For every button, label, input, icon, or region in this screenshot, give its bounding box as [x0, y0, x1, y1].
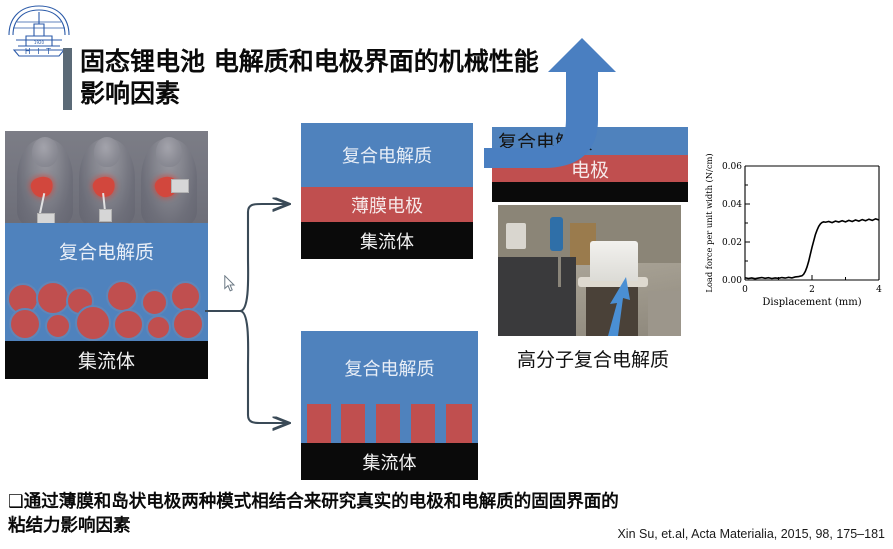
bullet-marker: ❑ — [8, 492, 24, 512]
implant-device — [37, 213, 55, 223]
particle — [9, 308, 41, 340]
xtick-label: 4 — [876, 285, 882, 295]
page-title-line1: 固态锂电池 电解质和电极界面的机械性能 — [80, 47, 539, 76]
ytick-label: 0.04 — [722, 200, 742, 210]
citation-text: Xin Su, et.al, Acta Materialia, 2015, 98… — [617, 527, 885, 541]
particle — [113, 309, 144, 340]
current-collector-layer: 集流体 — [5, 341, 208, 379]
particle — [75, 305, 111, 341]
particle — [36, 281, 70, 315]
sample-pointer-arrow — [586, 257, 646, 336]
composite-electrolyte-particles-diagram: 复合电解质 集流体 — [5, 131, 208, 379]
thin-film-electrode-stack: 复合电解质 薄膜电极 集流体 — [301, 123, 473, 259]
particle — [141, 289, 168, 316]
composite-electrolyte-layer: 复合电解质 — [492, 127, 688, 155]
svg-text:H I T: H I T — [25, 47, 53, 56]
implant-device — [99, 209, 112, 222]
xtick-label: 2 — [809, 285, 815, 295]
torso-figure — [79, 139, 135, 223]
chart-yticks — [745, 166, 750, 280]
composite-electrolyte-layer: 复合电解质 — [301, 123, 473, 187]
island-electrode — [376, 404, 400, 443]
current-collector-label: 集流体 — [5, 347, 208, 374]
page-title-line2: 影响因素 — [80, 78, 680, 110]
head-shape — [156, 137, 182, 167]
particle — [106, 280, 138, 312]
page-title: 固态锂电池 电解质和电极界面的机械性能 影响因素 — [80, 46, 680, 109]
title-accent-bar — [63, 48, 72, 110]
chart-xlabel: Displacement (mm) — [762, 297, 861, 308]
peel-test-stack: 复合电解质 电极 — [492, 127, 688, 202]
ytick-label: 0.06 — [722, 162, 742, 172]
island-electrode — [307, 404, 331, 443]
composite-electrolyte-label: 复合电解质 — [498, 128, 593, 155]
island-electrode-layer — [301, 404, 478, 443]
chart-xtick-labels: 0 2 4 — [742, 285, 882, 295]
chart-ylabel: Load force per unit width (N/cm) — [704, 153, 714, 292]
substrate-layer — [492, 182, 688, 202]
head-shape — [94, 137, 120, 167]
island-electrode — [341, 404, 365, 443]
electrode-layer: 电极 — [492, 155, 688, 182]
chart-axes — [745, 166, 879, 280]
ytick-label: 0.00 — [722, 276, 742, 286]
lab-photo-caption: 高分子复合电解质 — [498, 345, 688, 372]
polymer-composite-electrolyte-lab-photo — [498, 205, 681, 336]
ytick-label: 0.02 — [722, 238, 742, 248]
peel-force-chart: 0.00 0.02 0.04 0.06 0 2 4 Displacement (… — [701, 152, 885, 310]
photo-bottle — [550, 217, 563, 251]
pacemaker-implant-photo — [5, 131, 208, 223]
particle — [45, 313, 71, 339]
photo-stand-pole — [558, 251, 561, 287]
torso-figure — [141, 139, 197, 223]
mouse-cursor — [224, 275, 236, 292]
particle — [146, 315, 171, 340]
svg-text:1920: 1920 — [34, 40, 45, 45]
composite-electrolyte-label: 复合电解质 — [5, 238, 208, 265]
composite-electrolyte-label: 复合电解质 — [301, 355, 478, 381]
photo-monitor — [506, 223, 526, 249]
particle-layer — [5, 279, 208, 341]
current-collector-layer: 集流体 — [301, 222, 473, 259]
implant-device — [171, 179, 189, 193]
island-electrode-stack: 复合电解质 集流体 — [301, 331, 478, 480]
composite-electrolyte-layer: 复合电解质 — [301, 331, 478, 404]
current-collector-layer: 集流体 — [301, 443, 478, 480]
bullet-text: ❑通过薄膜和岛状电极两种模式相结合来研究真实的电极和电解质的固固界面的 粘结力影… — [8, 490, 708, 538]
composite-electrolyte-layer: 复合电解质 — [5, 223, 208, 279]
chart-data-series — [745, 219, 879, 279]
chart-ytick-labels: 0.00 0.02 0.04 0.06 — [722, 162, 742, 286]
photo-bench-dark — [498, 257, 576, 336]
composite-electrolyte-label: 复合电解质 — [301, 142, 473, 168]
current-collector-label: 集流体 — [301, 228, 473, 254]
island-electrode — [446, 404, 472, 443]
island-electrode — [411, 404, 435, 443]
photo-right-equipment — [648, 291, 681, 336]
branch-connector — [205, 204, 287, 423]
electrode-label: 电极 — [492, 155, 688, 182]
thin-film-electrode-layer: 薄膜电极 — [301, 187, 473, 222]
bullet-line2: 粘结力影响因素 — [8, 514, 708, 538]
xtick-label: 0 — [742, 285, 748, 295]
peel-force-chart-svg: 0.00 0.02 0.04 0.06 0 2 4 Displacement (… — [701, 152, 885, 310]
head-shape — [32, 137, 58, 167]
torso-figure — [17, 139, 73, 223]
particle — [172, 308, 204, 340]
bullet-line1: 通过薄膜和岛状电极两种模式相结合来研究真实的电极和电解质的固固界面的 — [24, 492, 619, 512]
thin-film-electrode-label: 薄膜电极 — [301, 192, 473, 218]
current-collector-label: 集流体 — [301, 449, 478, 475]
